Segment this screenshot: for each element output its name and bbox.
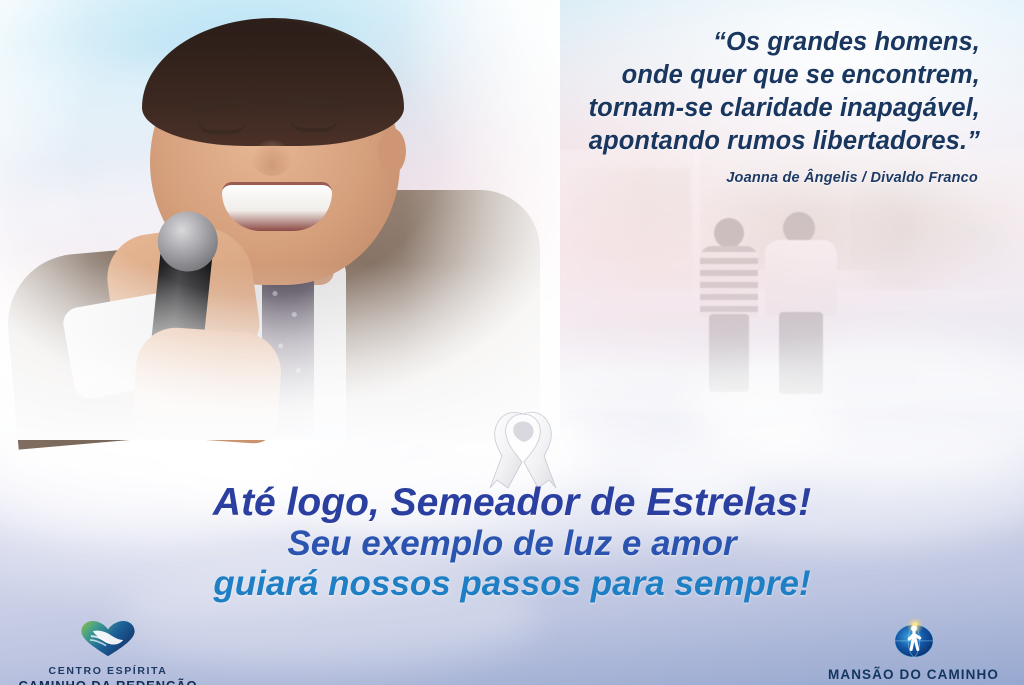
background-person-white: [765, 212, 837, 392]
quote-line-4: apontando rumos libertadores.”: [420, 125, 980, 158]
logo-right-line-1: MANSÃO DO CAMINHO: [811, 667, 1016, 683]
quote-line-2: onde quer que se encontrem,: [420, 59, 980, 92]
headline-line-2: Seu exemplo de luz e amor: [0, 524, 1024, 564]
memorial-poster: “Os grandes homens, onde quer que se enc…: [0, 0, 1024, 685]
quote-line-3: tornam-se claridade inapagável,: [420, 92, 980, 125]
background-person-striped: [700, 218, 758, 388]
quote-line-1: “Os grandes homens,: [420, 26, 980, 59]
logo-mansao-do-caminho: MANSÃO DO CAMINHO: [811, 618, 1016, 683]
headline-line-3: guiará nossos passos para sempre!: [0, 564, 1024, 604]
mourning-ribbon-icon: [484, 408, 562, 490]
headline-line-1: Até logo, Semeador de Estrelas!: [0, 482, 1024, 524]
heart-hands-icon: [8, 620, 208, 663]
globe-figure-icon: [811, 618, 1016, 665]
quote-attribution: Joanna de Ângelis / Divaldo Franco: [418, 170, 978, 186]
logo-left-line-2: CAMINHO DA REDENÇÃO: [8, 678, 208, 685]
quote-text: “Os grandes homens, onde quer que se enc…: [420, 26, 980, 158]
headline-block: Até logo, Semeador de Estrelas! Seu exem…: [0, 482, 1024, 604]
logo-left-line-1: CENTRO ESPÍRITA: [8, 665, 208, 678]
logo-centro-espirita: CENTRO ESPÍRITA CAMINHO DA REDENÇÃO: [8, 620, 208, 685]
background-photo: [560, 150, 1024, 410]
